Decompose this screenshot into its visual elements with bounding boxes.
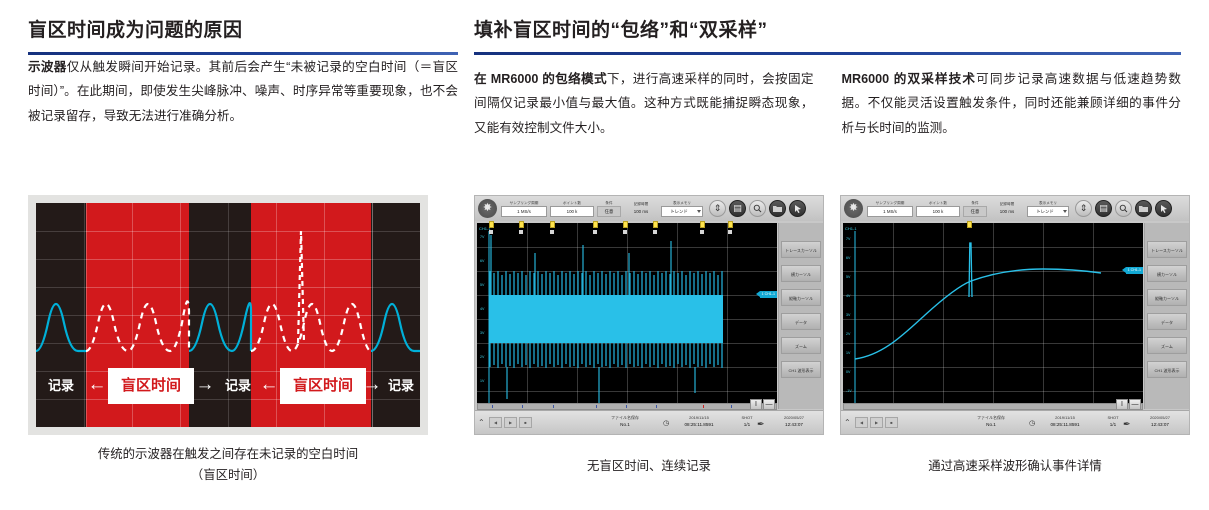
display-icon[interactable]: ▤ bbox=[729, 200, 746, 217]
right-body-col1: 在 MR6000 的包络模式下，进行高速采样的同时，会按固定间隔仅记录最小值与最… bbox=[474, 67, 814, 141]
field-value[interactable]: 任意 bbox=[597, 206, 621, 217]
legend-arrow-right-1: → bbox=[194, 371, 216, 401]
side-button-zoom[interactable]: ズーム bbox=[1147, 337, 1187, 354]
legend-record-1: 记录 bbox=[36, 371, 86, 401]
trigger-marker[interactable] bbox=[653, 221, 658, 228]
wave-blind-2 bbox=[251, 304, 371, 351]
side-button-data[interactable]: データ bbox=[781, 313, 821, 330]
search-icon[interactable] bbox=[749, 200, 766, 217]
field-record-time: 記録時間 100 ms bbox=[990, 202, 1024, 216]
chevron-up-icon[interactable]: ⌃ bbox=[478, 418, 485, 427]
side-button-ch1-display[interactable]: CH1 波形表示 bbox=[1147, 361, 1187, 378]
pen-icon[interactable]: ✒ bbox=[757, 419, 765, 430]
field-display-memory[interactable]: 表示メモリ トレンド bbox=[661, 201, 703, 217]
legend-record-3: 记录 bbox=[380, 371, 420, 401]
side-button-ch1-display[interactable]: CH1 波形表示 bbox=[781, 361, 821, 378]
field-value[interactable]: トレンド bbox=[661, 206, 703, 217]
gear-icon[interactable]: ✸ bbox=[844, 199, 863, 218]
blind-time-plot: 记录 ← 盲区时间 → 记录 ← 盲区时间 → 记录 bbox=[36, 203, 420, 427]
scope-b-statusbar: ⌃ ◀ ▶ ■ ファイル名保存 No.1 ◷ 2019/11/15 08:25:… bbox=[841, 410, 1189, 434]
clock-icon: ◷ bbox=[1029, 419, 1035, 427]
pen-icon[interactable]: ✒ bbox=[1123, 419, 1131, 430]
scope-b-spike bbox=[969, 243, 972, 297]
statusbar-keys[interactable]: ◀ ▶ ■ bbox=[489, 417, 532, 428]
left-section-title: 盲区时间成为问题的原因 bbox=[28, 0, 458, 43]
scope-b-curve bbox=[855, 269, 1101, 359]
right-section-title: 填补盲区时间的“包络”和“双采样” bbox=[474, 0, 1181, 43]
updown-icon[interactable]: ⇕ bbox=[709, 200, 726, 217]
wave-spike bbox=[298, 231, 304, 343]
field-value[interactable]: 100 k bbox=[550, 206, 594, 217]
scope-a-cursor-tag[interactable]: 1 CH1-1 bbox=[760, 291, 777, 298]
right-body-col2: MR6000 的双采样技术可同步记录高速数据与低速趋势数据。不仅能灵活设置触发条… bbox=[842, 67, 1182, 141]
statusbar-file: ファイル名保存 No.1 bbox=[597, 415, 653, 428]
side-button-trace-cursor[interactable]: トレースカーソル bbox=[1147, 241, 1187, 258]
clock-icon: ◷ bbox=[663, 419, 669, 427]
field-points[interactable]: ポイント数 100 k bbox=[550, 201, 594, 217]
field-record-time: 記録時間 100 ms bbox=[624, 202, 658, 216]
legend-arrow-left-1: ← bbox=[86, 371, 108, 401]
folder-icon[interactable] bbox=[1135, 200, 1152, 217]
left-body-lead: 示波器 bbox=[28, 60, 67, 74]
scope-screenshot-envelope: ✸ サンプリング周期 1 MS/s ポイント数 100 k 条件 任意 記録時間… bbox=[474, 195, 824, 435]
side-button-vertical-cursor[interactable]: 縦軸カーソル bbox=[1147, 289, 1187, 306]
side-button-vertical-cursor[interactable]: 縦軸カーソル bbox=[781, 289, 821, 306]
right-col1-lead: 在 MR6000 的包络模式 bbox=[474, 72, 607, 86]
field-sampling-period[interactable]: サンプリング周期 1 MS/s bbox=[501, 201, 547, 217]
left-body-rest: 仅从触发瞬间开始记录。其前后会产生“未被记录的空白时间（＝盲区时间）”。在此期间… bbox=[28, 60, 458, 123]
trigger-marker[interactable] bbox=[967, 221, 972, 228]
scope-a-caption: 无盲区时间、连续记录 bbox=[474, 456, 824, 477]
wave-recorded-2 bbox=[189, 303, 251, 351]
field-value[interactable]: トレンド bbox=[1027, 206, 1069, 217]
blind-time-figure: 记录 ← 盲区时间 → 记录 ← 盲区时间 → 记录 bbox=[28, 195, 428, 435]
field-value[interactable]: 100 k bbox=[916, 206, 960, 217]
right-column: 填补盲区时间的“包络”和“双采样” 在 MR6000 的包络模式下，进行高速采样… bbox=[474, 0, 1181, 140]
field-value: 100 ms bbox=[990, 207, 1024, 216]
field-value[interactable]: 任意 bbox=[963, 206, 987, 217]
statusbar-clock: 2019/11/15 08:25:11.8591 bbox=[1037, 415, 1093, 428]
legend-blind-1: 盲区时间 bbox=[108, 368, 194, 404]
statusbar-keys[interactable]: ◀ ▶ ■ bbox=[855, 417, 898, 428]
side-button-horizontal-cursor[interactable]: 横カーソル bbox=[781, 265, 821, 282]
scope-a-scrollbar[interactable] bbox=[477, 403, 777, 410]
side-button-horizontal-cursor[interactable]: 横カーソル bbox=[1147, 265, 1187, 282]
scope-a-side-panel: トレースカーソル 横カーソル 縦軸カーソル データ ズーム CH1 波形表示 bbox=[778, 223, 823, 409]
trigger-marker[interactable] bbox=[550, 221, 555, 228]
field-condition[interactable]: 条件 任意 bbox=[597, 201, 621, 217]
scope-screenshot-dual-sampling: ✸ サンプリング周期 1 MS/s ポイント数 100 k 条件 任意 記録時間… bbox=[840, 195, 1190, 435]
left-caption-line1: 传统的示波器在触发之间存在未记录的空白时间 bbox=[28, 444, 428, 465]
page-root: 盲区时间成为问题的原因 示波器仅从触发瞬间开始记录。其前后会产生“未被记录的空白… bbox=[0, 0, 1209, 510]
scope-b-toolbar: ✸ サンプリング周期 1 MS/s ポイント数 100 k 条件 任意 記録時間… bbox=[841, 196, 1189, 221]
display-icon[interactable]: ▤ bbox=[1095, 200, 1112, 217]
field-points[interactable]: ポイント数 100 k bbox=[916, 201, 960, 217]
field-value[interactable]: 1 MS/s bbox=[501, 206, 547, 217]
side-button-zoom[interactable]: ズーム bbox=[781, 337, 821, 354]
zoom-in-button[interactable]: I bbox=[750, 399, 762, 410]
field-value[interactable]: 1 MS/s bbox=[867, 206, 913, 217]
wave-recorded-1 bbox=[36, 304, 86, 351]
cursor-icon[interactable] bbox=[1155, 200, 1172, 217]
legend-blind-2: 盲区时间 bbox=[280, 368, 366, 404]
scope-a-toolbar: ✸ サンプリング周期 1 MS/s ポイント数 100 k 条件 任意 記録時間… bbox=[475, 196, 823, 221]
scope-a-waveform bbox=[477, 223, 777, 419]
zoom-out-button[interactable]: — bbox=[1129, 399, 1141, 410]
trigger-marker[interactable] bbox=[593, 221, 598, 228]
trigger-marker[interactable] bbox=[700, 221, 705, 228]
field-condition[interactable]: 条件 任意 bbox=[963, 201, 987, 217]
left-figure-caption: 传统的示波器在触发之间存在未记录的空白时间 （盲区时间） bbox=[28, 444, 428, 486]
legend-arrow-left-2: ← bbox=[258, 371, 280, 401]
search-icon[interactable] bbox=[1115, 200, 1132, 217]
right-title-rule bbox=[474, 52, 1181, 55]
field-sampling-period[interactable]: サンプリング周期 1 MS/s bbox=[867, 201, 913, 217]
chevron-up-icon[interactable]: ⌃ bbox=[844, 418, 851, 427]
zoom-out-button[interactable]: — bbox=[763, 399, 775, 410]
field-display-memory[interactable]: 表示メモリ トレンド bbox=[1027, 201, 1069, 217]
statusbar-file: ファイル名保存 No.1 bbox=[963, 415, 1019, 428]
trigger-marker[interactable] bbox=[519, 221, 524, 228]
scope-a-statusbar: ⌃ ◀ ▶ ■ ファイル名保存 No.1 ◷ 2019/11/15 08:25:… bbox=[475, 410, 823, 434]
scope-b-plot[interactable]: CH1-1 7V 6V 5V 4V 3V 2V 1V 0V -1V 1 CH1-… bbox=[843, 223, 1143, 419]
scope-a-plot[interactable]: CH1-1 7V 6V 5V 4V 3V 2V 1V bbox=[477, 223, 777, 419]
statusbar-datetime: 2020/05/27 12:43:07 bbox=[767, 415, 821, 428]
trigger-marker[interactable] bbox=[728, 221, 733, 228]
field-value: 100 ms bbox=[624, 207, 658, 216]
right-col2-lead: MR6000 的双采样技术 bbox=[842, 72, 977, 86]
cursor-icon[interactable] bbox=[789, 200, 806, 217]
scope-b-caption: 通过高速采样波形确认事件详情 bbox=[840, 456, 1190, 477]
side-button-data[interactable]: データ bbox=[1147, 313, 1187, 330]
left-column: 盲区时间成为问题的原因 示波器仅从触发瞬间开始记录。其前后会产生“未被记录的空白… bbox=[28, 0, 458, 128]
figure-legend-row: 记录 ← 盲区时间 → 记录 ← 盲区时间 → 记录 bbox=[36, 371, 420, 401]
legend-arrow-right-2: → bbox=[362, 371, 382, 401]
trigger-marker[interactable] bbox=[623, 221, 628, 228]
right-body-columns: 在 MR6000 的包络模式下，进行高速采样的同时，会按固定间隔仅记录最小值与最… bbox=[474, 67, 1181, 141]
scope-b-scrollbar[interactable] bbox=[843, 403, 1143, 410]
left-body-text: 示波器仅从触发瞬间开始记录。其前后会产生“未被记录的空白时间（＝盲区时间）”。在… bbox=[28, 55, 458, 129]
trigger-marker[interactable] bbox=[489, 221, 494, 228]
wave-recorded-3 bbox=[371, 304, 420, 351]
side-button-trace-cursor[interactable]: トレースカーソル bbox=[781, 241, 821, 258]
wave-blind-1 bbox=[86, 301, 189, 351]
scope-b-cursor-tag[interactable]: 1 CH1-1 bbox=[1126, 267, 1143, 274]
scope-b-waveform bbox=[843, 223, 1143, 419]
statusbar-clock: 2019/11/15 08:25:11.8591 bbox=[671, 415, 727, 428]
gear-icon[interactable]: ✸ bbox=[478, 199, 497, 218]
updown-icon[interactable]: ⇕ bbox=[1075, 200, 1092, 217]
legend-record-2: 记录 bbox=[216, 371, 260, 401]
left-caption-line2: （盲区时间） bbox=[28, 465, 428, 486]
statusbar-datetime: 2020/05/27 12:43:07 bbox=[1133, 415, 1187, 428]
scope-b-side-panel: トレースカーソル 横カーソル 縦軸カーソル データ ズーム CH1 波形表示 bbox=[1144, 223, 1189, 409]
folder-icon[interactable] bbox=[769, 200, 786, 217]
zoom-in-button[interactable]: I bbox=[1116, 399, 1128, 410]
